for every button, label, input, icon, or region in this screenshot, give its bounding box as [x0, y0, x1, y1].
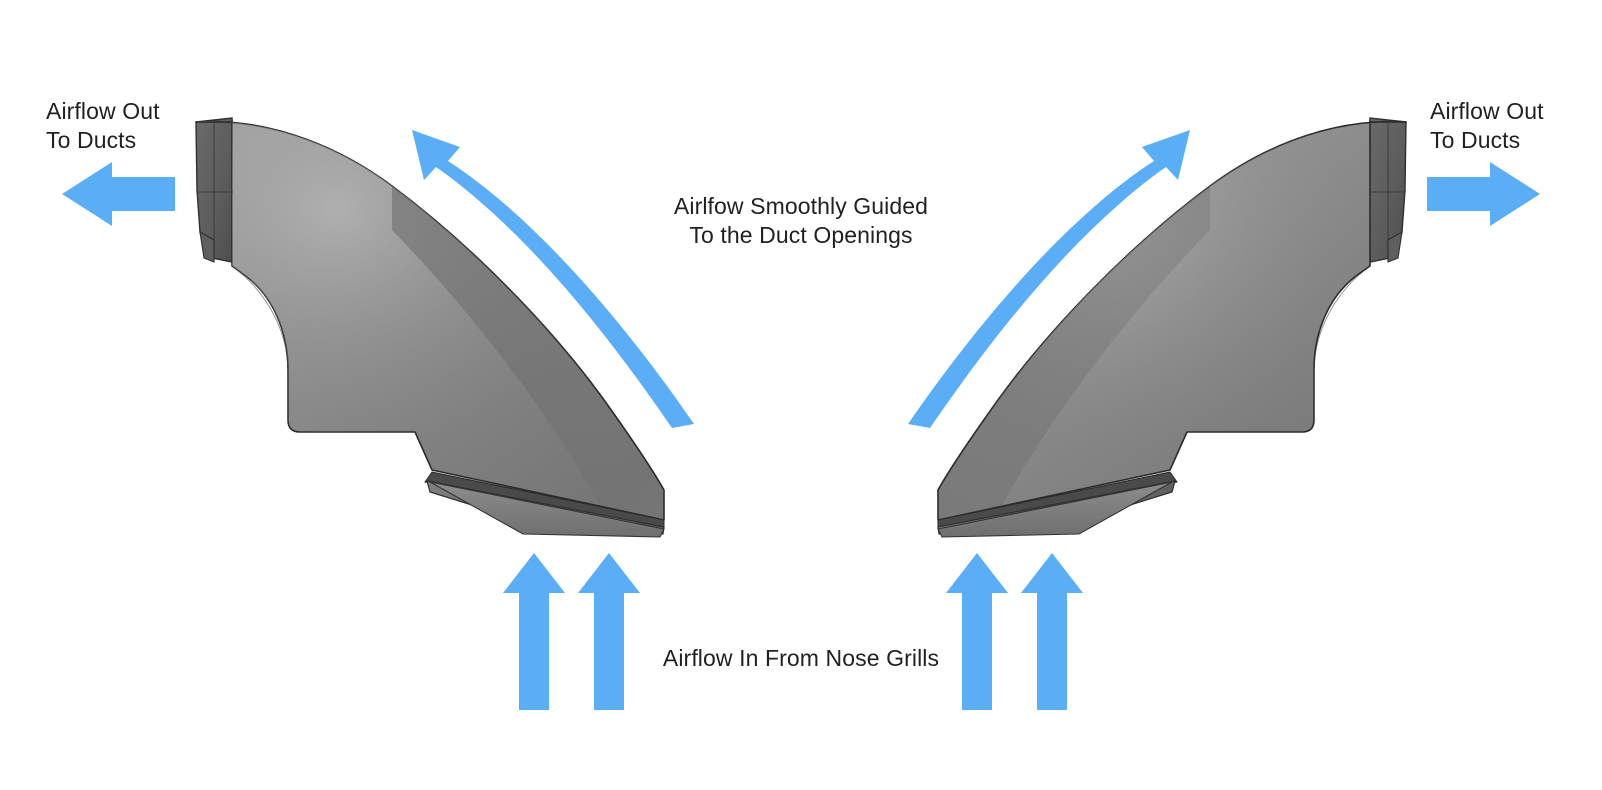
airflow-in-left-arrow-1 — [503, 553, 565, 710]
duct-shroud-left — [196, 118, 664, 537]
airflow-in-left-arrow-2 — [578, 553, 640, 710]
airflow-in-right-arrow-2 — [1021, 553, 1083, 710]
airflow-in-right-arrow-1 — [946, 553, 1008, 710]
airflow-out-left-label: Airflow Out To Ducts — [46, 97, 160, 155]
diagram-canvas: Airflow Out To Ducts Airflow Out To Duct… — [0, 0, 1602, 790]
airflow-in-label: Airflow In From Nose Grills — [0, 644, 1602, 673]
duct-shroud-right — [938, 118, 1406, 537]
airflow-guided-label: Airlfow Smoothly Guided To the Duct Open… — [0, 192, 1602, 250]
airflow-out-right-label: Airflow Out To Ducts — [1430, 97, 1544, 155]
